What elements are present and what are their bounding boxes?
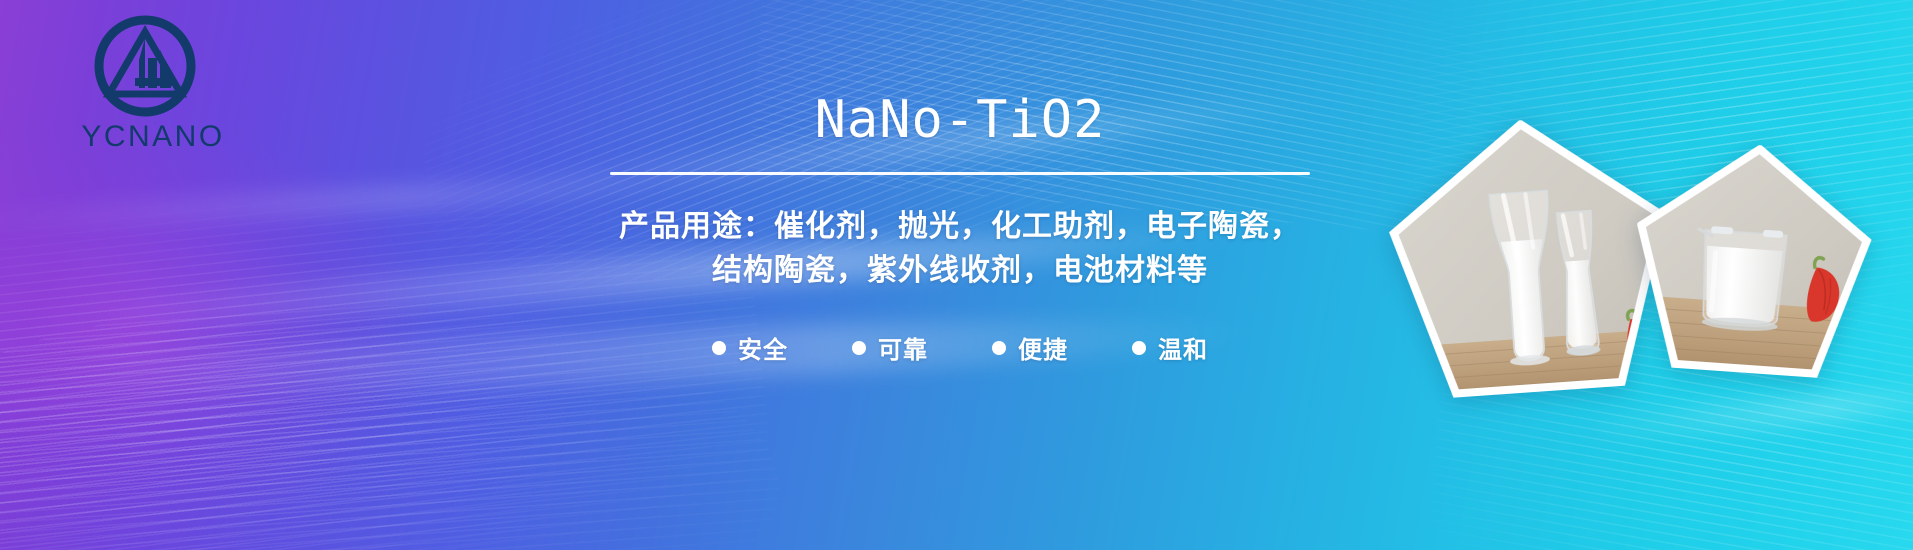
wave-field-bottom-left	[0, 313, 608, 550]
usage-line-2: 结构陶瓷，紫外线收剂，电池材料等	[520, 249, 1400, 293]
feature-item-reliable: 可靠	[852, 330, 928, 365]
product-banner: YCNANO NaNo-TiO2 产品用途：催化剂，抛光，化工助剂，电子陶瓷， …	[0, 0, 1913, 550]
bullet-dot-icon	[852, 341, 866, 355]
feature-item-convenient: 便捷	[992, 330, 1068, 365]
feature-list: 安全 可靠 便捷 温和	[520, 330, 1400, 365]
brand-wordmark: YCNANO	[38, 120, 268, 154]
product-title: NaNo-TiO2	[520, 94, 1400, 146]
feature-label: 安全	[738, 330, 788, 365]
feature-label: 便捷	[1018, 330, 1068, 365]
ycnano-logo-icon	[93, 14, 197, 118]
product-photo-beaker	[1627, 137, 1878, 388]
banner-content: NaNo-TiO2 产品用途：催化剂，抛光，化工助剂，电子陶瓷， 结构陶瓷，紫外…	[520, 70, 1400, 365]
title-divider	[610, 172, 1310, 175]
bullet-dot-icon	[1132, 341, 1146, 355]
product-photo-group	[1390, 100, 1913, 480]
bullet-dot-icon	[992, 341, 1006, 355]
feature-label: 可靠	[878, 330, 928, 365]
product-usage-text: 产品用途：催化剂，抛光，化工助剂，电子陶瓷， 结构陶瓷，紫外线收剂，电池材料等	[520, 205, 1400, 292]
feature-item-safe: 安全	[712, 330, 788, 365]
feature-item-mild: 温和	[1132, 330, 1208, 365]
feature-label: 温和	[1158, 330, 1208, 365]
usage-line-1: 产品用途：催化剂，抛光，化工助剂，电子陶瓷，	[520, 205, 1400, 249]
bullet-dot-icon	[712, 341, 726, 355]
background-haze	[0, 120, 440, 540]
brand-logo: YCNANO	[38, 14, 268, 154]
